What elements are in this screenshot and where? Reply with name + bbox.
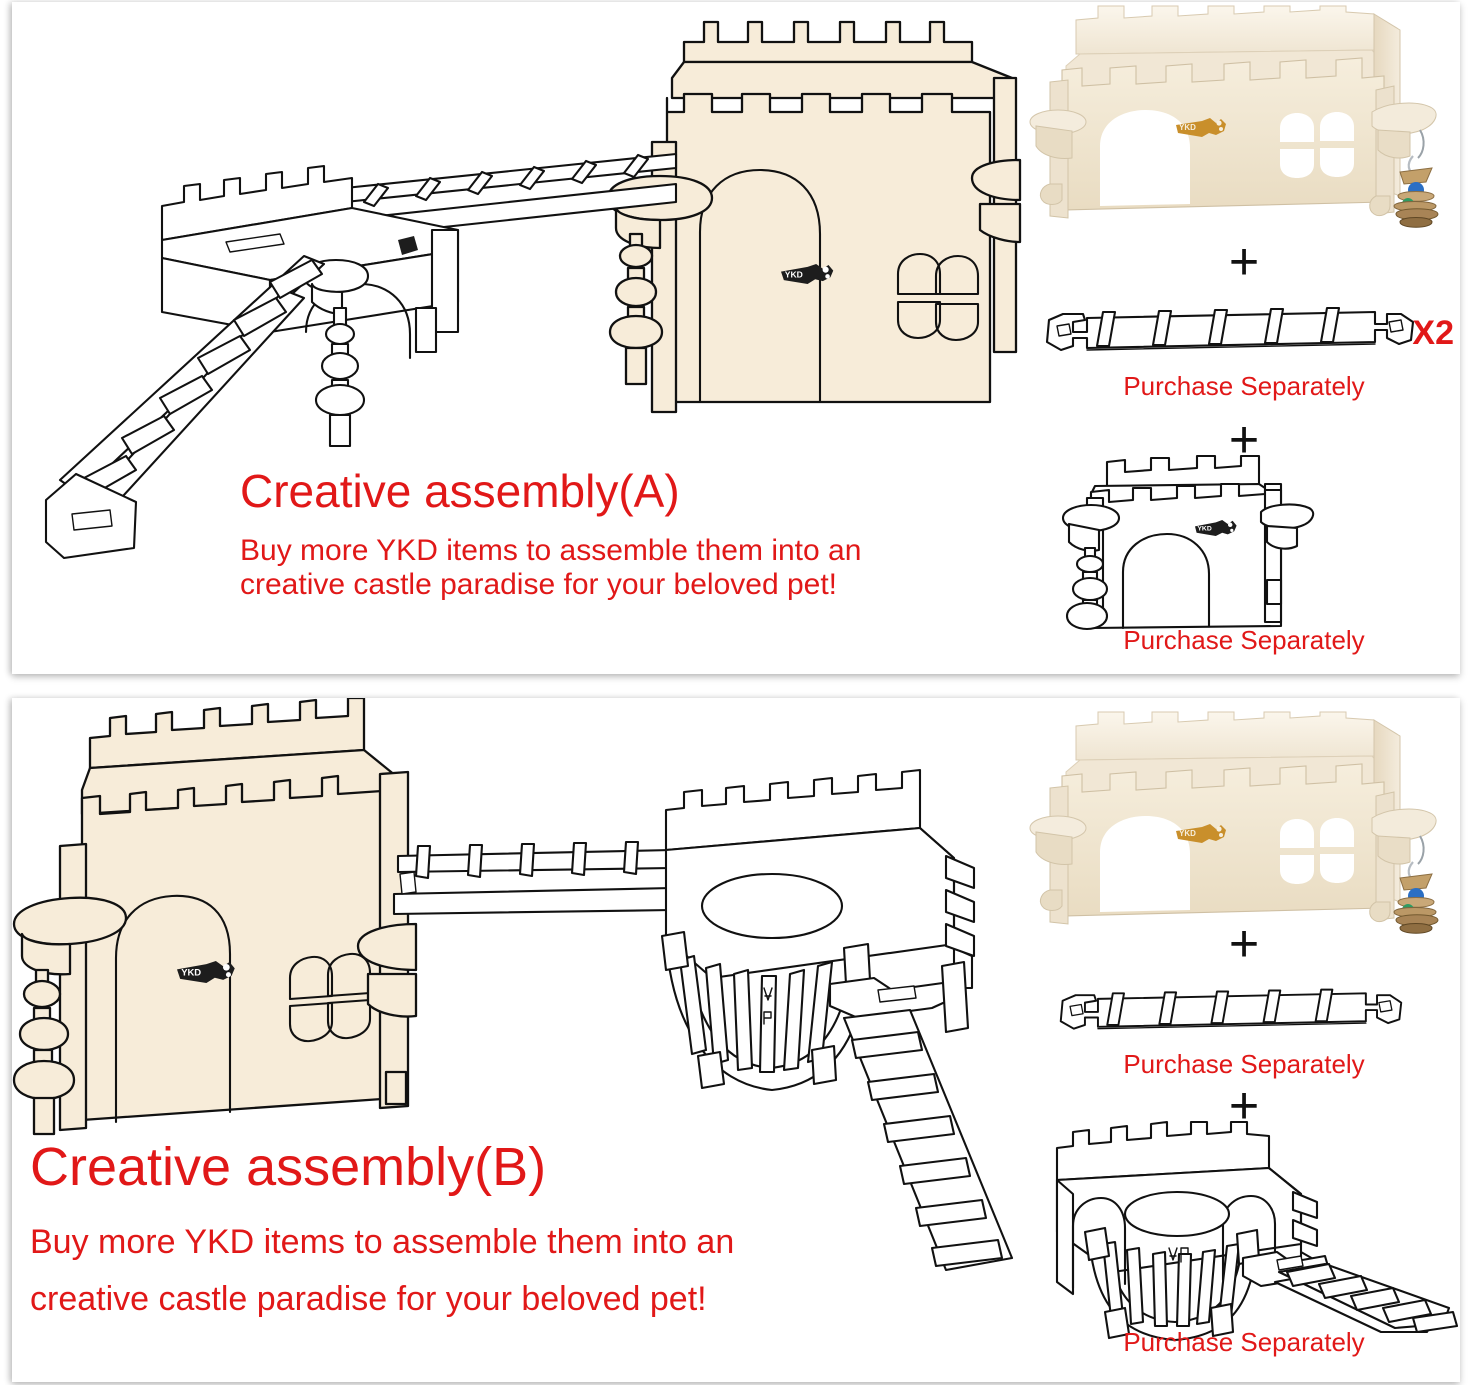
svg-text:YKD: YKD <box>785 269 803 279</box>
purchase-separately-label-a-2: Purchase Separately <box>1028 626 1460 655</box>
corner-tower-b-svg <box>1029 1122 1459 1332</box>
plus-separator-b-1: + <box>1028 924 1460 966</box>
subline-a-1: Buy more YKD items to assemble them into… <box>240 534 861 568</box>
castle-hideout-photo-a[interactable]: YKD <box>1028 6 1460 234</box>
panel-creative-assembly-a: YKD <box>12 2 1460 674</box>
svg-text:YKD: YKD <box>1179 123 1196 132</box>
buy-column-a: YKD <box>1028 2 1460 674</box>
castle-photo-a-svg: YKD <box>1028 6 1458 234</box>
castle-photo-b-svg: YKD <box>1028 712 1458 940</box>
castle-arch-item-a[interactable]: YKD Pur <box>1028 456 1460 655</box>
panel-creative-assembly-b: YKD <box>12 698 1460 1382</box>
step-ramp-corner-b <box>1275 1264 1457 1332</box>
castle-hideout-photo-b[interactable]: YKD <box>1028 712 1460 940</box>
infographic-sheet: YKD <box>0 0 1470 1385</box>
hanging-toy-a <box>304 260 368 446</box>
buy-column-b: YKD <box>1028 698 1460 1382</box>
subline-a-2: creative castle paradise for your belove… <box>240 568 861 602</box>
subline-b-1: Buy more YKD items to assemble them into… <box>30 1214 734 1271</box>
ladder-bridge-item-a[interactable]: X2 Purchase Separately <box>1028 292 1460 401</box>
castle-hideout-a: YKD <box>608 22 1020 412</box>
svg-text:YKD: YKD <box>181 968 201 979</box>
headline-b: Creative assembly(B) <box>30 1136 734 1198</box>
subline-b-2: creative castle paradise for your belove… <box>30 1271 734 1328</box>
castle-arch-a-svg: YKD <box>1029 456 1459 628</box>
purchase-separately-label-b-1: Purchase Separately <box>1028 1050 1460 1079</box>
plus-separator-a-1: + <box>1028 242 1460 284</box>
ladder-bridge-b <box>394 842 672 914</box>
ladder-bridge-a-svg <box>1029 292 1459 370</box>
castle-hideout-b: YKD <box>14 698 416 1134</box>
svg-text:YKD: YKD <box>1179 829 1196 838</box>
headline-a: Creative assembly(A) <box>240 464 861 518</box>
step-ramp-b <box>844 1010 1012 1270</box>
purchase-separately-label-a-1: Purchase Separately <box>1028 372 1460 401</box>
ladder-bridge-item-b[interactable]: Purchase Separately <box>1028 972 1460 1079</box>
quantity-badge-x2: X2 <box>1412 314 1454 353</box>
copy-block-b: Creative assembly(B) Buy more YKD items … <box>30 1136 734 1328</box>
copy-block-a: Creative assembly(A) Buy more YKD items … <box>240 464 861 602</box>
svg-text:YKD: YKD <box>1197 525 1211 532</box>
ladder-bridge-b-svg <box>1044 972 1444 1050</box>
corner-tower-item-b[interactable]: Purchase Separately <box>1028 1122 1460 1357</box>
